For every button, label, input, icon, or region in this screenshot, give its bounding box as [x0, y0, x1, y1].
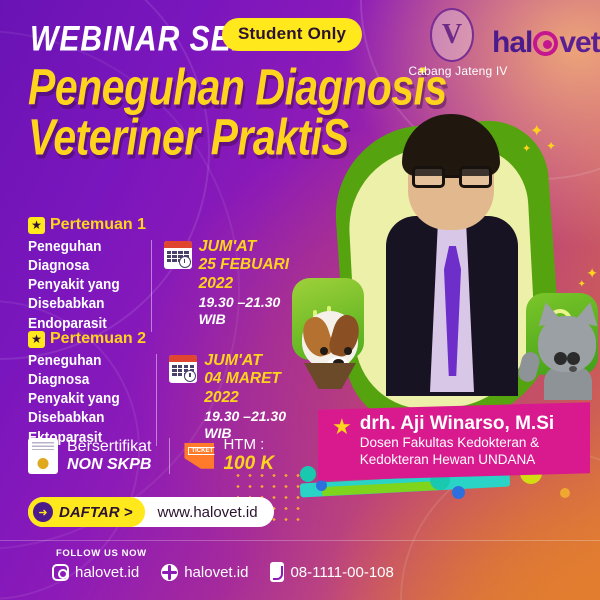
brand-text-vet: vet [559, 26, 599, 59]
phone-link[interactable]: 08-1111-00-108 [270, 562, 393, 582]
cat-head [538, 316, 596, 372]
sparkle-icon: ✦ [586, 266, 598, 280]
price-text: HTM : 100 K [223, 437, 274, 474]
follow-us-label: FOLLOW US NOW [56, 548, 147, 559]
session-1-time: 19.30 –21.30 WIB [199, 294, 298, 329]
confetti-dot [560, 488, 570, 498]
dog-image [294, 293, 368, 393]
speaker-details: drh. Aji Winarso, M.Si Dosen Fakultas Ke… [360, 414, 554, 468]
ticket-icon-label: TICKET [188, 447, 216, 455]
register-bar[interactable]: ➜ DAFTAR > www.halovet.id [28, 497, 274, 527]
divider [156, 354, 157, 446]
session-1: ★ Pertemuan 1 Peneguhan Diagnosa Penyaki… [28, 216, 298, 334]
instagram-icon [52, 564, 69, 581]
ticket-icon: TICKET [184, 443, 214, 469]
cat-eye-right [567, 352, 580, 365]
glasses-bridge [445, 175, 459, 178]
calendar-icon [169, 355, 197, 383]
session-2-desc-line2: Penyakit yang Disebabkan [28, 390, 149, 428]
cat-image [532, 300, 600, 396]
session-1-schedule: JUM'AT 25 FEBUARI 2022 19.30 –21.30 WIB [164, 238, 298, 334]
brand-text-hal: hal [492, 26, 532, 59]
dog-eye-left [320, 347, 328, 355]
phone-icon [270, 562, 284, 582]
calendar-icon [164, 241, 192, 269]
session-1-body: Peneguhan Diagnosa Penyakit yang Disebab… [28, 238, 298, 334]
session-2-description: Peneguhan Diagnosa Penyakit yang Disebab… [28, 352, 149, 448]
footer-divider [0, 540, 600, 541]
session-1-day: JUM'AT [199, 238, 298, 256]
star-icon: ★ [28, 217, 45, 234]
emblem-letter: V [442, 21, 462, 49]
daftar-button[interactable]: ➜ DAFTAR > [28, 497, 145, 527]
session-2-date: 04 MARET 2022 [204, 370, 298, 407]
clock-icon [179, 256, 191, 268]
daftar-button-label: DAFTAR > [59, 504, 132, 521]
certificate-icon [28, 438, 58, 474]
cat-nose [569, 366, 577, 372]
social-links: halovet.id halovet.id 08-1111-00-108 [52, 562, 394, 582]
divider [169, 438, 170, 474]
certificate-line1: Bersertifikat [67, 438, 151, 456]
calendar-header [169, 355, 197, 362]
certificate-price-row: Bersertifikat NON SKPB TICKET HTM : 100 … [28, 437, 274, 474]
certificate-text: Bersertifikat NON SKPB [67, 438, 151, 473]
speaker-role-line2: Kedokteran Hewan UNDANA [360, 452, 554, 468]
session-2-day: JUM'AT [204, 352, 298, 370]
glasses-lens-right [459, 166, 492, 188]
register-url[interactable]: www.halovet.id [157, 504, 257, 521]
session-1-date: 25 FEBUARI 2022 [199, 256, 298, 293]
sparkle-icon: ✦ [546, 140, 556, 152]
sparkle-icon: ✦ [522, 144, 531, 155]
sparkle-icon: ✦ [578, 280, 586, 290]
clock-icon [184, 370, 196, 382]
session-2-desc-line1: Peneguhan Diagnosa [28, 352, 149, 390]
session-2-datetime: JUM'AT 04 MARET 2022 19.30 –21.30 WIB [204, 352, 298, 443]
session-1-desc-line1: Peneguhan Diagnosa [28, 238, 143, 276]
session-2-body: Peneguhan Diagnosa Penyakit yang Disebab… [28, 352, 298, 448]
instagram-link[interactable]: halovet.id [52, 564, 139, 581]
phone-number: 08-1111-00-108 [290, 564, 393, 581]
emblem-caption: Cabang Jateng IV [398, 64, 518, 78]
session-2: ★ Pertemuan 2 Peneguhan Diagnosa Penyaki… [28, 330, 298, 448]
speaker-photo [386, 96, 518, 396]
session-1-label: Pertemuan 1 [50, 216, 146, 234]
session-1-desc-line2: Penyakit yang Disebabkan [28, 276, 143, 314]
sparkle-icon: ✦ [530, 124, 543, 140]
student-only-badge: Student Only [222, 18, 362, 51]
cat-eye-left [554, 352, 567, 365]
session-1-header: ★ Pertemuan 1 [28, 216, 298, 234]
dog-bandana [304, 363, 356, 389]
divider [151, 240, 152, 332]
speaker-role-line1: Dosen Fakultas Kedokteran & [360, 435, 554, 451]
session-2-schedule: JUM'AT 04 MARET 2022 19.30 –21.30 WIB [169, 352, 298, 448]
calendar-header [164, 241, 192, 248]
speaker-glasses [412, 166, 492, 188]
webinar-poster: WEBINAR SERIES Student Only Peneguhan Di… [0, 0, 600, 600]
speaker-name: drh. Aji Winarso, M.Si [360, 414, 554, 434]
confetti-dot [316, 480, 327, 491]
price-label: HTM : [223, 437, 274, 454]
glasses-lens-left [412, 166, 445, 188]
speaker-artwork: ✦ ✦ ✦ ✦ ✦ [300, 88, 600, 448]
session-1-description: Peneguhan Diagnosa Penyakit yang Disebab… [28, 238, 143, 334]
dog-head [302, 311, 358, 369]
paw-circle-icon [533, 31, 558, 56]
globe-icon [161, 564, 178, 581]
session-2-label: Pertemuan 2 [50, 330, 146, 348]
star-icon: ★ [332, 416, 352, 438]
instagram-handle: halovet.id [75, 564, 139, 581]
certificate-seal [38, 458, 49, 469]
speaker-banner-inner: ★ drh. Aji Winarso, M.Si Dosen Fakultas … [332, 414, 580, 468]
veterinary-emblem-icon: V [430, 8, 478, 66]
dog-eye-right [344, 347, 352, 355]
session-2-header: ★ Pertemuan 2 [28, 330, 298, 348]
session-1-datetime: JUM'AT 25 FEBUARI 2022 19.30 –21.30 WIB [199, 238, 298, 329]
confetti-dot [300, 466, 316, 482]
confetti-dot [452, 486, 465, 499]
halovet-logo: halvet [492, 27, 600, 58]
certificate-line2: NON SKPB [67, 456, 151, 474]
website-link[interactable]: halovet.id [161, 564, 248, 581]
arrow-circle-icon: ➜ [33, 502, 53, 522]
speaker-banner: ★ drh. Aji Winarso, M.Si Dosen Fakultas … [318, 402, 590, 480]
star-icon: ★ [28, 331, 45, 348]
emblem-oval: V [430, 8, 474, 62]
website-handle: halovet.id [184, 564, 248, 581]
